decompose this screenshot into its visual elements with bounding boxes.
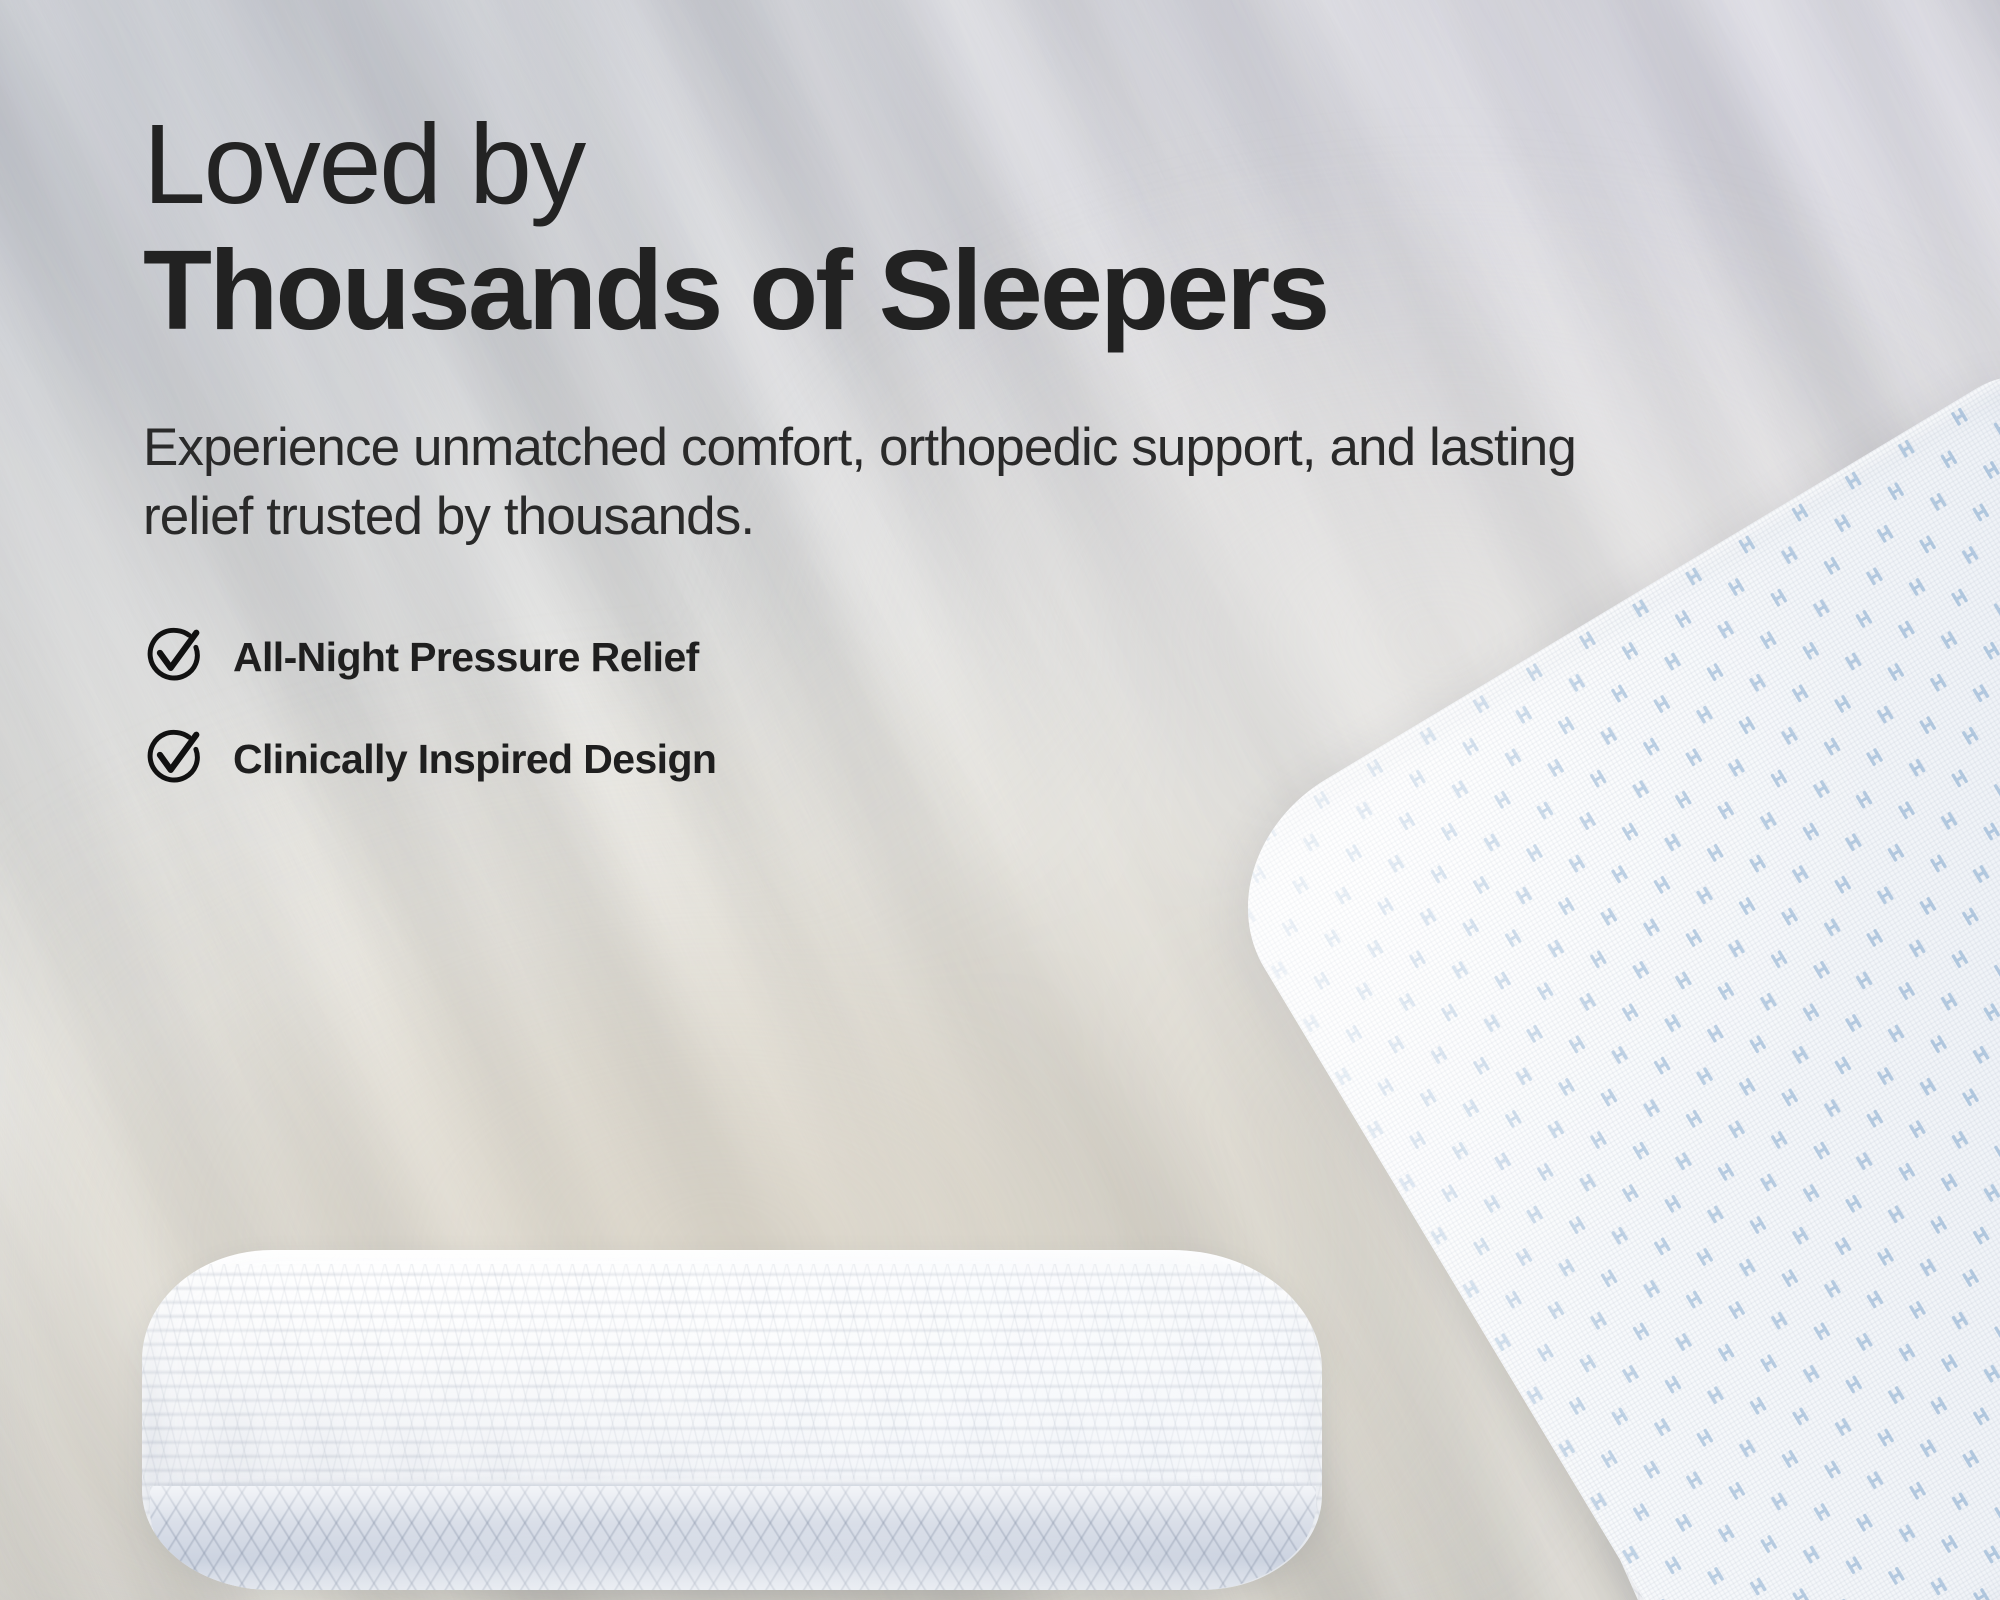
circle-check-icon xyxy=(143,626,205,688)
hero-banner: Loved by Thousands of Sleepers Experienc… xyxy=(0,0,2000,1600)
headline-line-1: Loved by xyxy=(143,108,1903,221)
pillow-front-gusset-band xyxy=(150,1486,1316,1590)
feature-item-clinical-design: Clinically Inspired Design xyxy=(143,728,1903,790)
feature-list: All-Night Pressure Relief Clinically Ins… xyxy=(143,626,1903,790)
hero-subheadline: Experience unmatched comfort, orthopedic… xyxy=(143,414,1623,552)
pillow-front-body xyxy=(142,1250,1322,1590)
feature-label: All-Night Pressure Relief xyxy=(233,634,699,681)
feature-label: Clinically Inspired Design xyxy=(233,736,716,783)
feature-item-pressure-relief: All-Night Pressure Relief xyxy=(143,626,1903,688)
headline-line-2: Thousands of Sleepers xyxy=(143,233,1903,348)
memory-foam-pillow-front xyxy=(142,1250,1322,1590)
circle-check-icon xyxy=(143,728,205,790)
hero-copy-block: Loved by Thousands of Sleepers Experienc… xyxy=(143,108,1903,790)
